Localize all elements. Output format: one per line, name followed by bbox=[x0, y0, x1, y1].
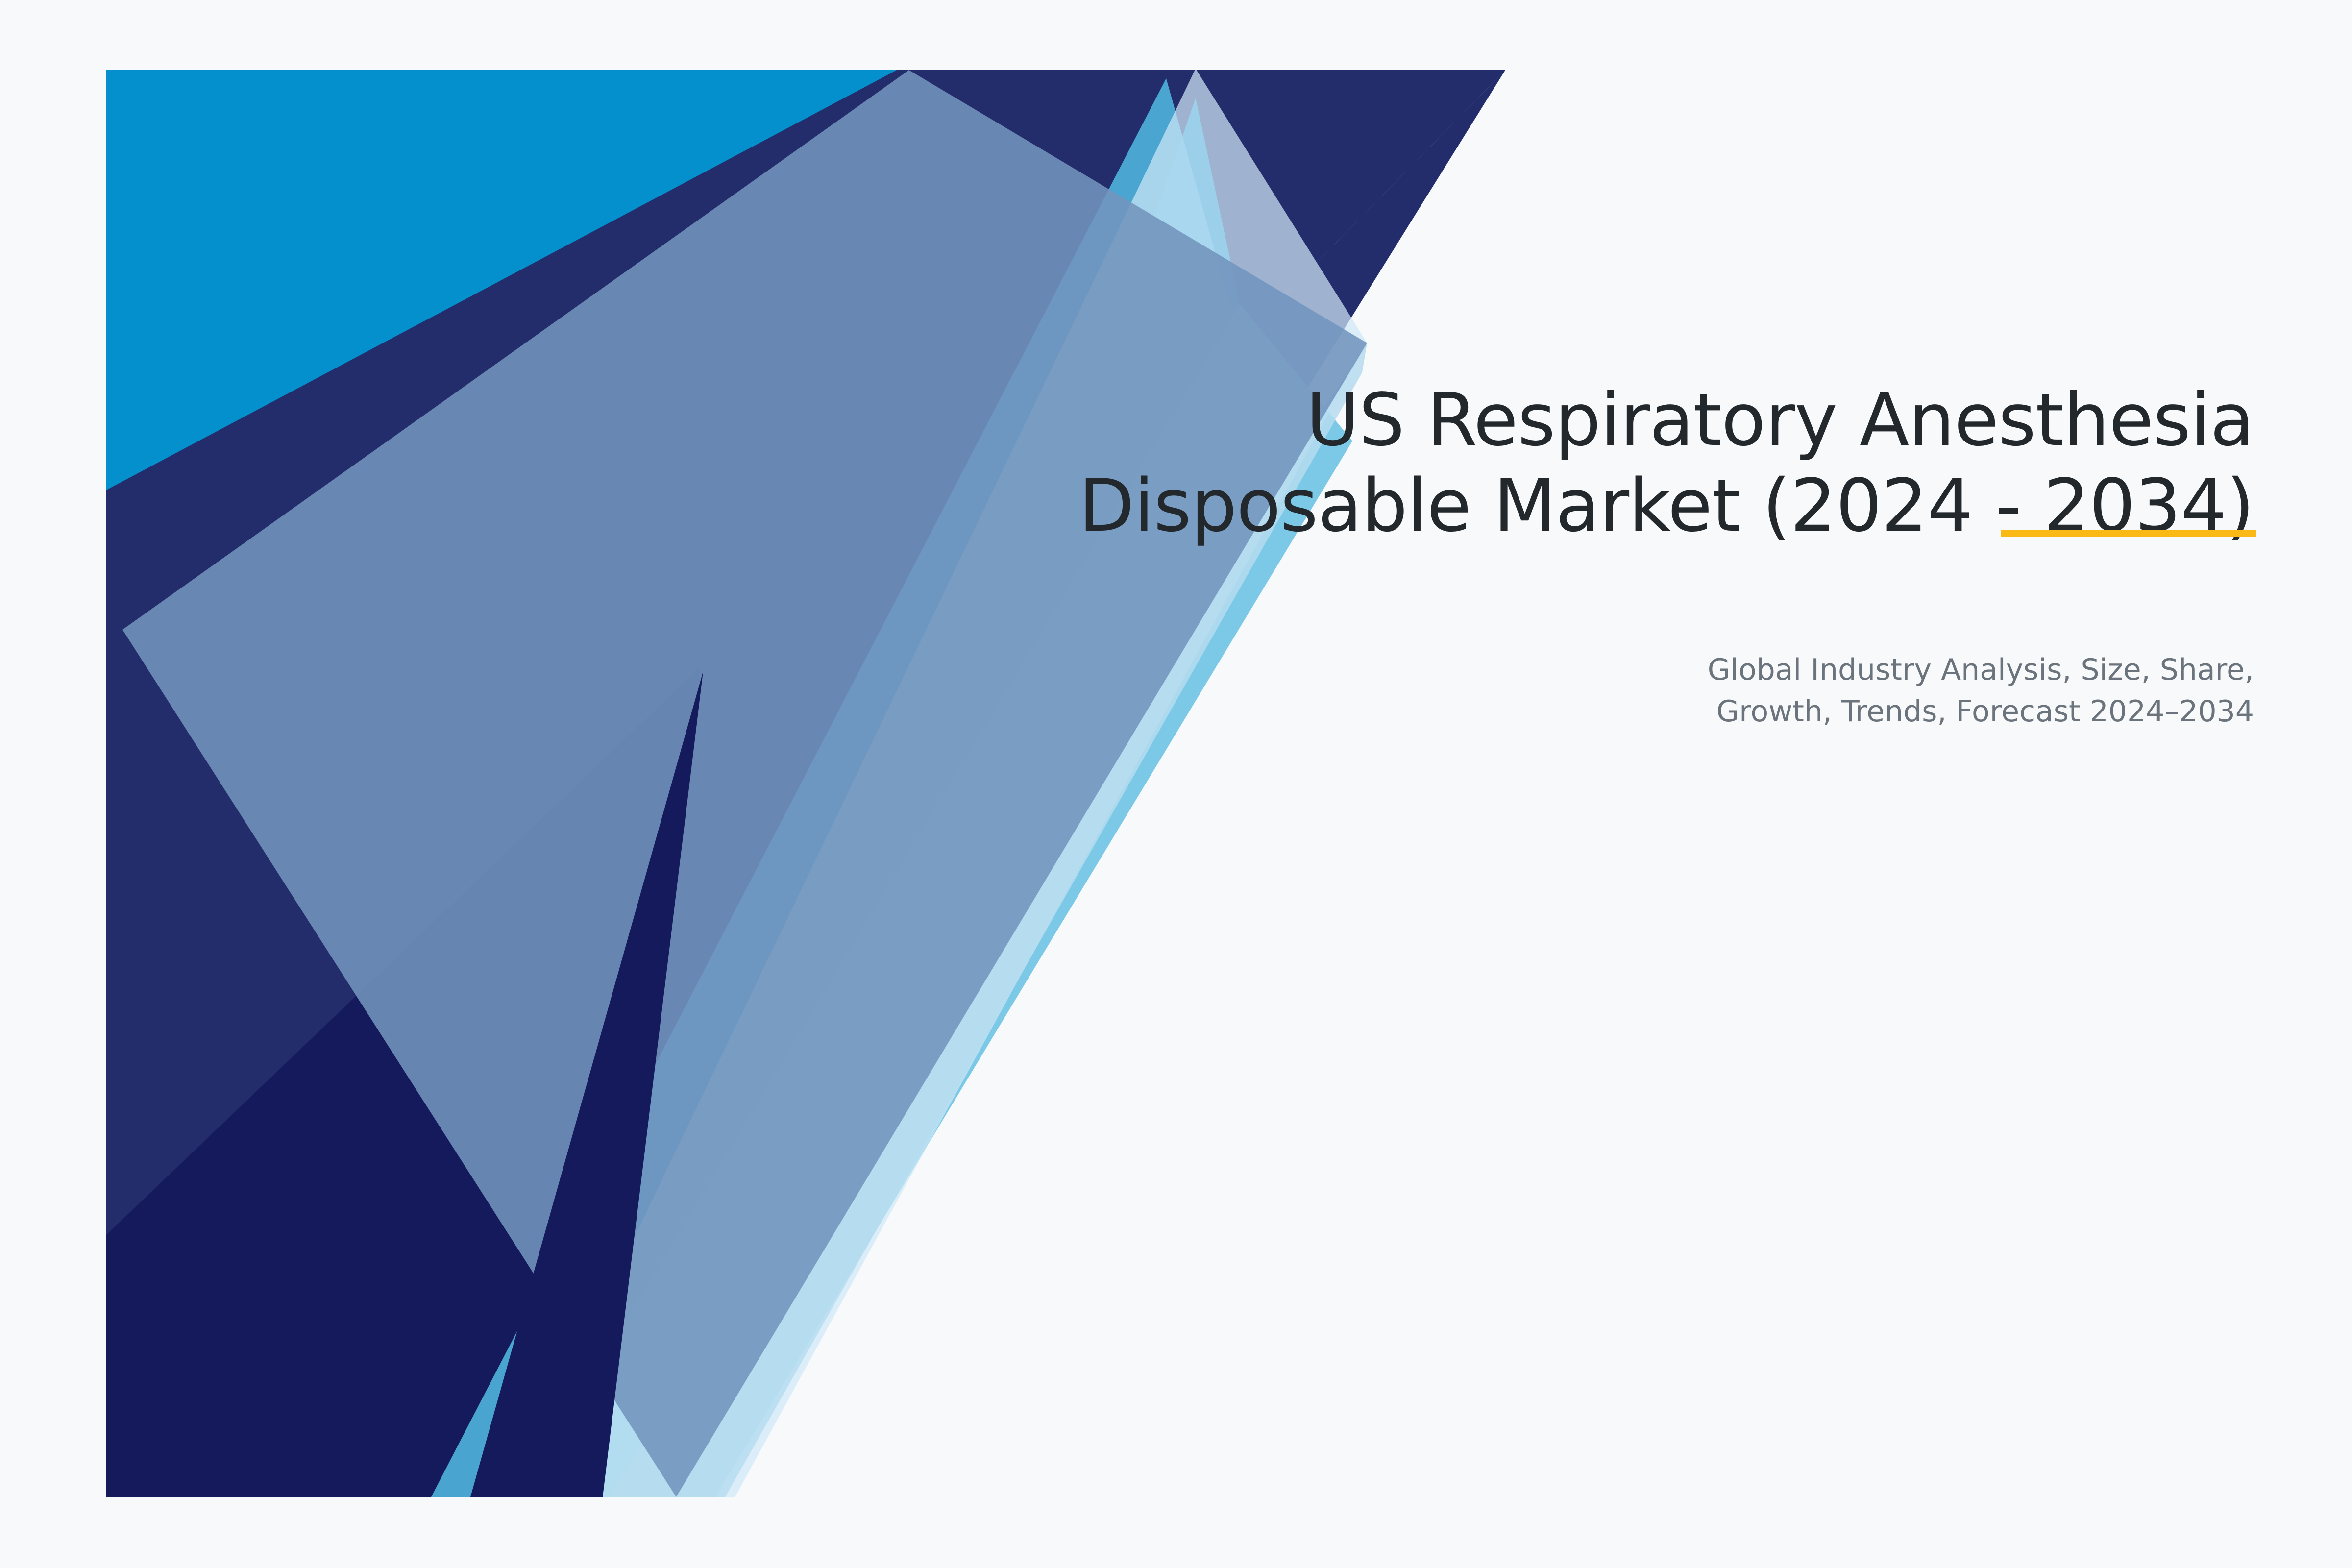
cover-text-block: US Respiratory Anesthesia Disposable Mar… bbox=[980, 377, 2254, 548]
cover-page: US Respiratory Anesthesia Disposable Mar… bbox=[0, 0, 2352, 1568]
title-accent-underline bbox=[2001, 530, 2256, 537]
page-title: US Respiratory Anesthesia Disposable Mar… bbox=[980, 377, 2254, 548]
abstract-geometric-artwork bbox=[0, 0, 2352, 1568]
page-subtitle: Global Industry Analysis, Size, Share, G… bbox=[1372, 649, 2254, 733]
